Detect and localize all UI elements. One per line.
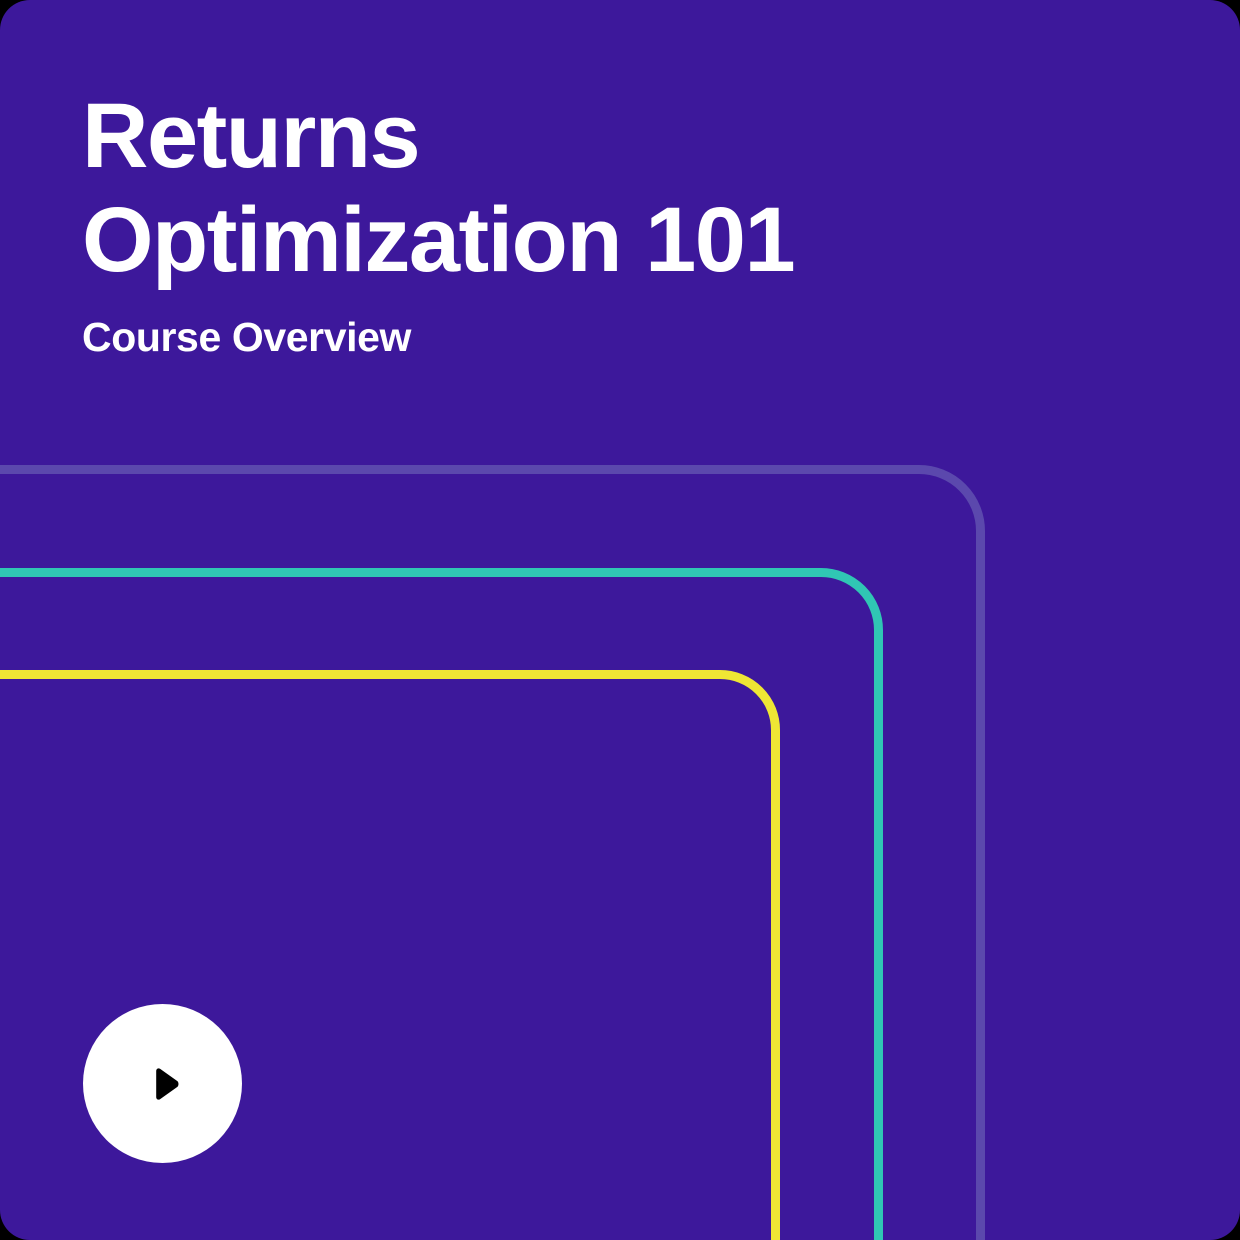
page-title: Returns Optimization 101 bbox=[82, 84, 882, 292]
heading-block: Returns Optimization 101 Course Overview bbox=[82, 84, 882, 360]
play-button[interactable] bbox=[83, 1004, 242, 1163]
play-triangle-icon bbox=[152, 1068, 180, 1100]
course-overview-card: Returns Optimization 101 Course Overview bbox=[0, 0, 1240, 1240]
page-subtitle: Course Overview bbox=[82, 314, 882, 360]
inner-card-outline bbox=[0, 670, 780, 1240]
